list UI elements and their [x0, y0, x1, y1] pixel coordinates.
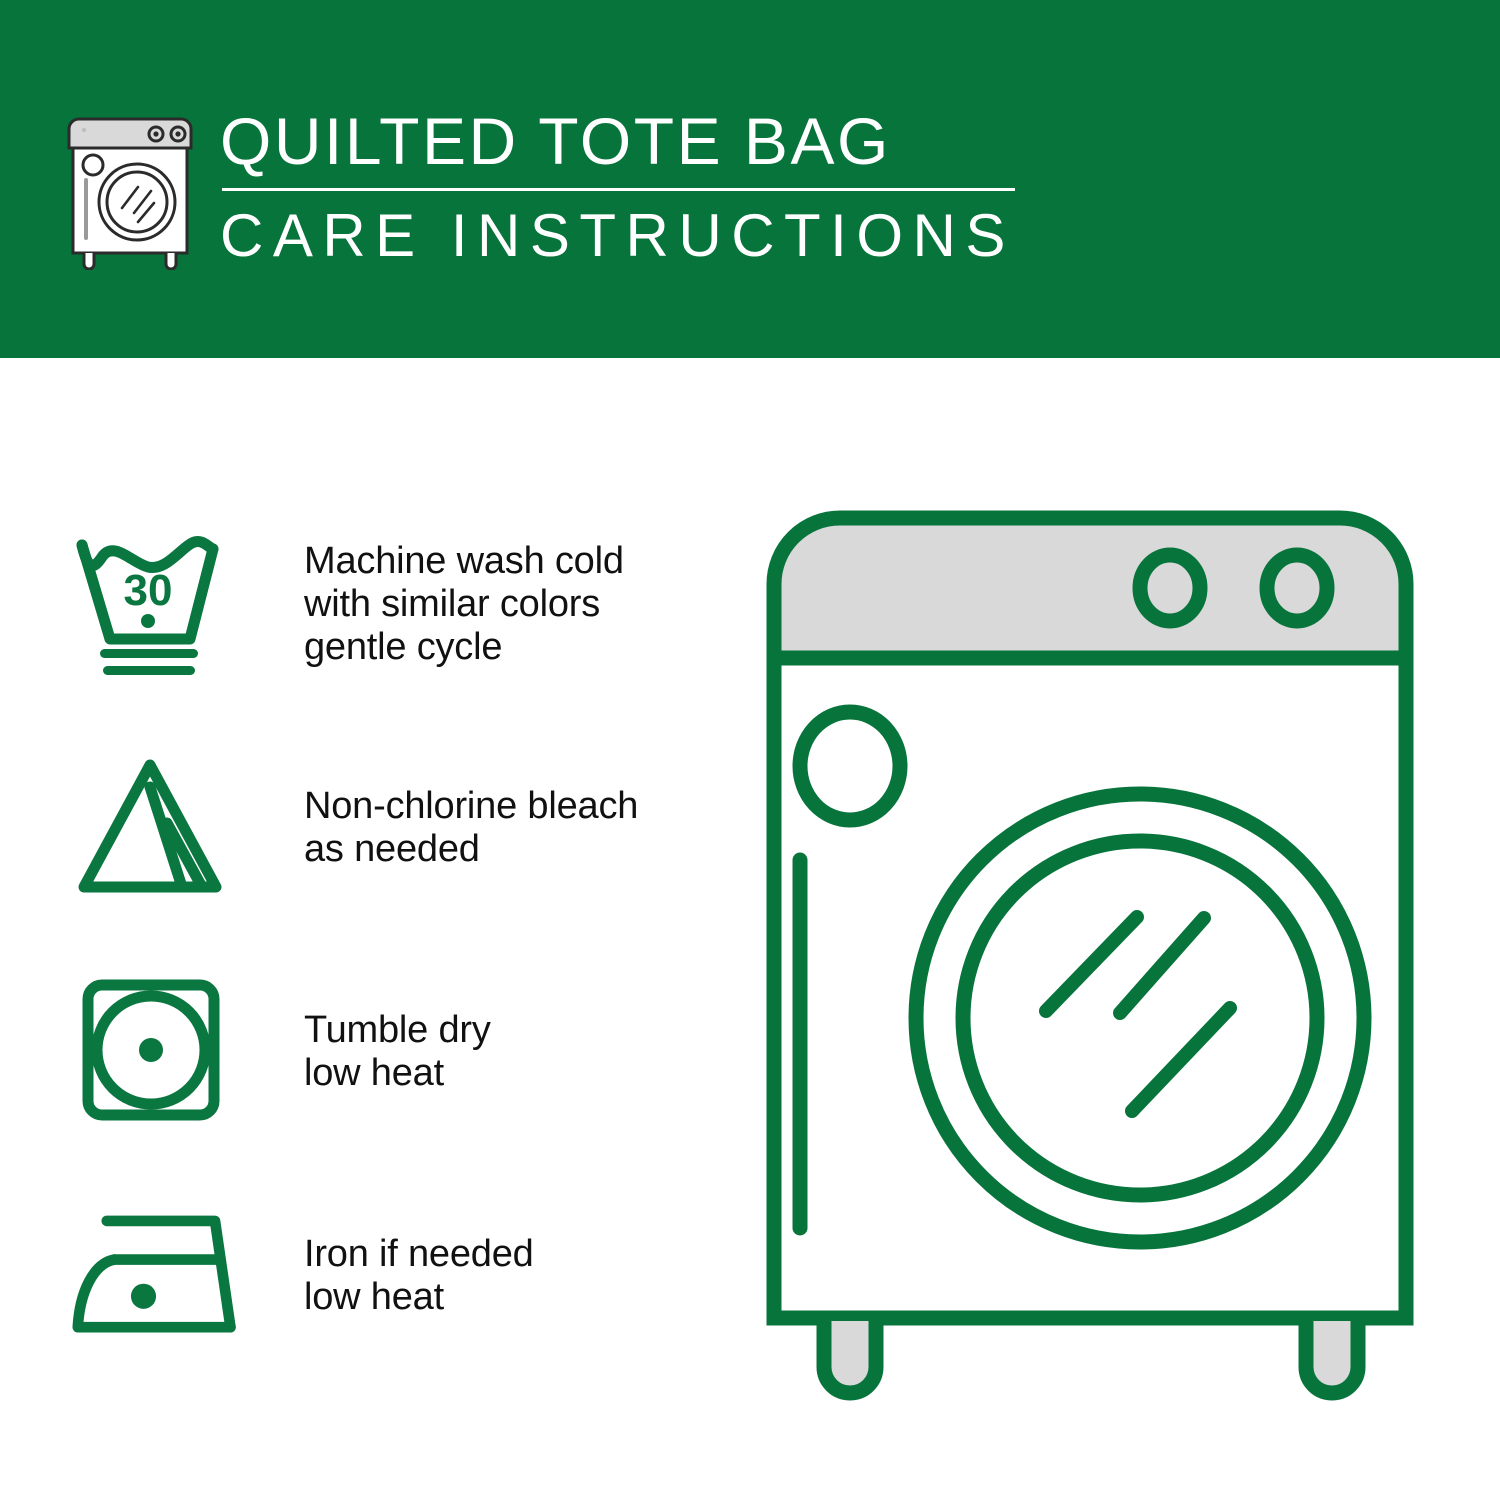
care-label-line: Machine wash cold: [304, 540, 624, 583]
tumble-dry-low-icon: [72, 971, 244, 1131]
control-knob-left[interactable]: [1140, 555, 1200, 621]
care-item-tumble-dry: Tumble dry low heat: [72, 966, 712, 1136]
machine-leg-left: [824, 1321, 876, 1393]
care-item-machine-wash: 30 Machine wash cold with similar colors…: [72, 518, 712, 688]
care-item-label: Iron if needed low heat: [304, 1233, 534, 1319]
care-label-line: gentle cycle: [304, 626, 624, 669]
care-label-line: Non-chlorine bleach: [304, 785, 638, 828]
drum-inner-ring: [963, 841, 1317, 1195]
header-content: QUILTED TOTE BAG CARE INSTRUCTIONS: [62, 104, 1015, 270]
machine-leg-right: [1306, 1321, 1358, 1393]
washing-machine-illustration: [740, 498, 1440, 1428]
care-label-line: low heat: [304, 1052, 491, 1095]
page-title: QUILTED TOTE BAG: [220, 104, 1015, 178]
dispenser-circle: [800, 712, 900, 820]
care-item-label: Machine wash cold with similar colors ge…: [304, 540, 624, 669]
wash-temperature-value: 30: [124, 566, 173, 615]
care-instruction-list: 30 Machine wash cold with similar colors…: [72, 518, 712, 1360]
iron-low-heat-icon: [72, 1195, 244, 1355]
control-knob-right[interactable]: [1267, 555, 1327, 621]
care-label-line: as needed: [304, 828, 638, 871]
non-chlorine-bleach-icon: [72, 747, 244, 907]
care-item-label: Non-chlorine bleach as needed: [304, 785, 638, 871]
care-item-bleach: Non-chlorine bleach as needed: [72, 742, 712, 912]
care-item-iron: Iron if needed low heat: [72, 1190, 712, 1360]
header-title-group: QUILTED TOTE BAG CARE INSTRUCTIONS: [220, 104, 1015, 269]
header-banner: QUILTED TOTE BAG CARE INSTRUCTIONS: [0, 0, 1500, 358]
care-label-line: Tumble dry: [304, 1009, 491, 1052]
title-divider: [222, 188, 1015, 191]
page-subtitle: CARE INSTRUCTIONS: [220, 203, 1015, 269]
care-label-line: Iron if needed: [304, 1233, 534, 1276]
washing-machine-icon: [62, 110, 198, 270]
content-area: 30 Machine wash cold with similar colors…: [0, 358, 1500, 1500]
machine-wash-30-gentle-icon: 30: [72, 523, 244, 683]
care-item-label: Tumble dry low heat: [304, 1009, 491, 1095]
care-label-line: low heat: [304, 1276, 534, 1319]
care-label-line: with similar colors: [304, 583, 624, 626]
